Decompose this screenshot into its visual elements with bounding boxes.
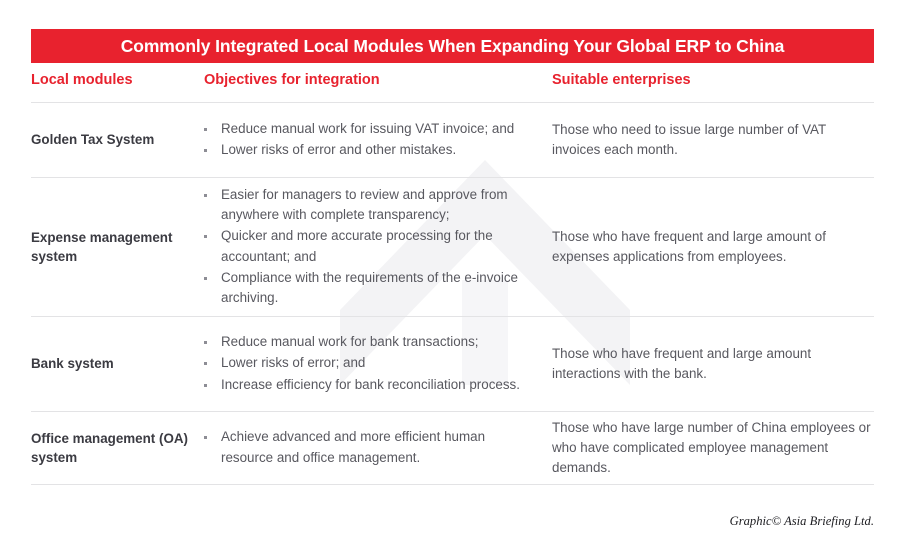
column-header-local-modules: Local modules (31, 72, 203, 102)
graphic-credit: Graphic© Asia Briefing Ltd. (730, 514, 874, 528)
module-name: Golden Tax System (31, 130, 154, 149)
list-item: Compliance with the requirements of the … (203, 268, 529, 308)
suitable-enterprises-text: Those who have frequent and large amount… (541, 344, 874, 384)
column-header-objectives: Objectives for integration (203, 72, 541, 102)
row-suitable-cell: Those who have large number of China emp… (541, 412, 874, 484)
objectives-list: Reduce manual work for bank transactions… (203, 332, 520, 395)
table-row: Office management (OA) system Achieve ad… (31, 412, 874, 484)
table-row: Expense management system Easier for man… (31, 178, 874, 316)
row-objectives-cell: Reduce manual work for issuing VAT invoi… (203, 103, 541, 177)
infographic-table: Commonly Integrated Local Modules When E… (0, 0, 900, 552)
row-objectives-cell: Easier for managers to review and approv… (203, 178, 541, 316)
list-item: Reduce manual work for issuing VAT invoi… (203, 119, 514, 139)
suitable-enterprises-text: Those who have large number of China emp… (541, 418, 874, 478)
table-row: Bank system Reduce manual work for bank … (31, 317, 874, 411)
row-suitable-cell: Those who need to issue large number of … (541, 103, 874, 177)
header-banner: Commonly Integrated Local Modules When E… (31, 29, 874, 63)
list-item: Reduce manual work for bank transactions… (203, 332, 520, 352)
suitable-enterprises-text: Those who need to issue large number of … (541, 120, 874, 160)
table-row: Golden Tax System Reduce manual work for… (31, 103, 874, 177)
column-header-suitable-enterprises: Suitable enterprises (541, 72, 874, 102)
column-header-label: Objectives for integration (203, 72, 380, 88)
list-item: Lower risks of error and other mistakes. (203, 140, 514, 160)
table-header-row: Local modules Objectives for integration… (31, 72, 874, 102)
module-name: Office management (OA) system (31, 429, 195, 468)
column-header-label: Suitable enterprises (541, 72, 691, 88)
footer: Graphic© Asia Briefing Ltd. (31, 512, 874, 530)
list-item: Lower risks of error; and (203, 353, 520, 373)
objectives-list: Easier for managers to review and approv… (203, 185, 529, 309)
list-item: Increase efficiency for bank reconciliat… (203, 375, 520, 395)
list-item: Easier for managers to review and approv… (203, 185, 529, 225)
column-header-label: Local modules (31, 72, 133, 88)
row-objectives-cell: Reduce manual work for bank transactions… (203, 317, 541, 411)
page-title: Commonly Integrated Local Modules When E… (121, 36, 785, 57)
module-name: Bank system (31, 354, 114, 373)
objectives-list: Achieve advanced and more efficient huma… (203, 427, 529, 468)
row-objectives-cell: Achieve advanced and more efficient huma… (203, 412, 541, 484)
module-name: Expense management system (31, 228, 195, 267)
row-module-cell: Golden Tax System (31, 103, 203, 177)
suitable-enterprises-text: Those who have frequent and large amount… (541, 227, 874, 267)
row-module-cell: Bank system (31, 317, 203, 411)
row-suitable-cell: Those who have frequent and large amount… (541, 178, 874, 316)
objectives-list: Reduce manual work for issuing VAT invoi… (203, 119, 514, 161)
row-module-cell: Expense management system (31, 178, 203, 316)
data-table: Local modules Objectives for integration… (31, 72, 874, 485)
row-module-cell: Office management (OA) system (31, 412, 203, 484)
list-item: Achieve advanced and more efficient huma… (203, 427, 529, 467)
list-item: Quicker and more accurate processing for… (203, 226, 529, 266)
row-suitable-cell: Those who have frequent and large amount… (541, 317, 874, 411)
table-bottom-divider (31, 484, 874, 485)
